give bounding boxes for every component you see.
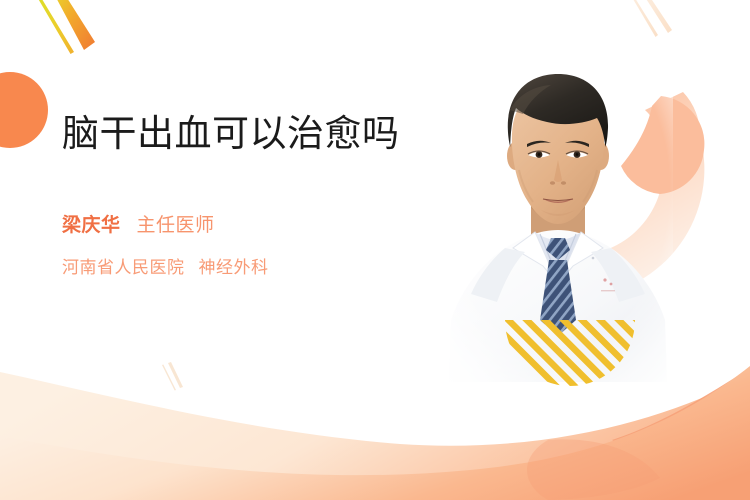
doctor-line: 梁庆华 主任医师 [62,210,462,237]
doctor-info-card: 脑干出血可以治愈吗 梁庆华 主任医师 河南省人民医院 神经外科 [0,0,750,500]
doctor-department: 神经外科 [199,253,269,278]
doctor-professional-title: 主任医师 [137,210,215,237]
affiliation-line: 河南省人民医院 神经外科 [62,253,462,278]
doctor-name: 梁庆华 [62,210,121,237]
doctor-hospital: 河南省人民医院 [62,253,185,278]
page-title: 脑干出血可以治愈吗 [62,112,407,155]
text-block: 脑干出血可以治愈吗 梁庆华 主任医师 河南省人民医院 神经外科 [62,112,462,278]
